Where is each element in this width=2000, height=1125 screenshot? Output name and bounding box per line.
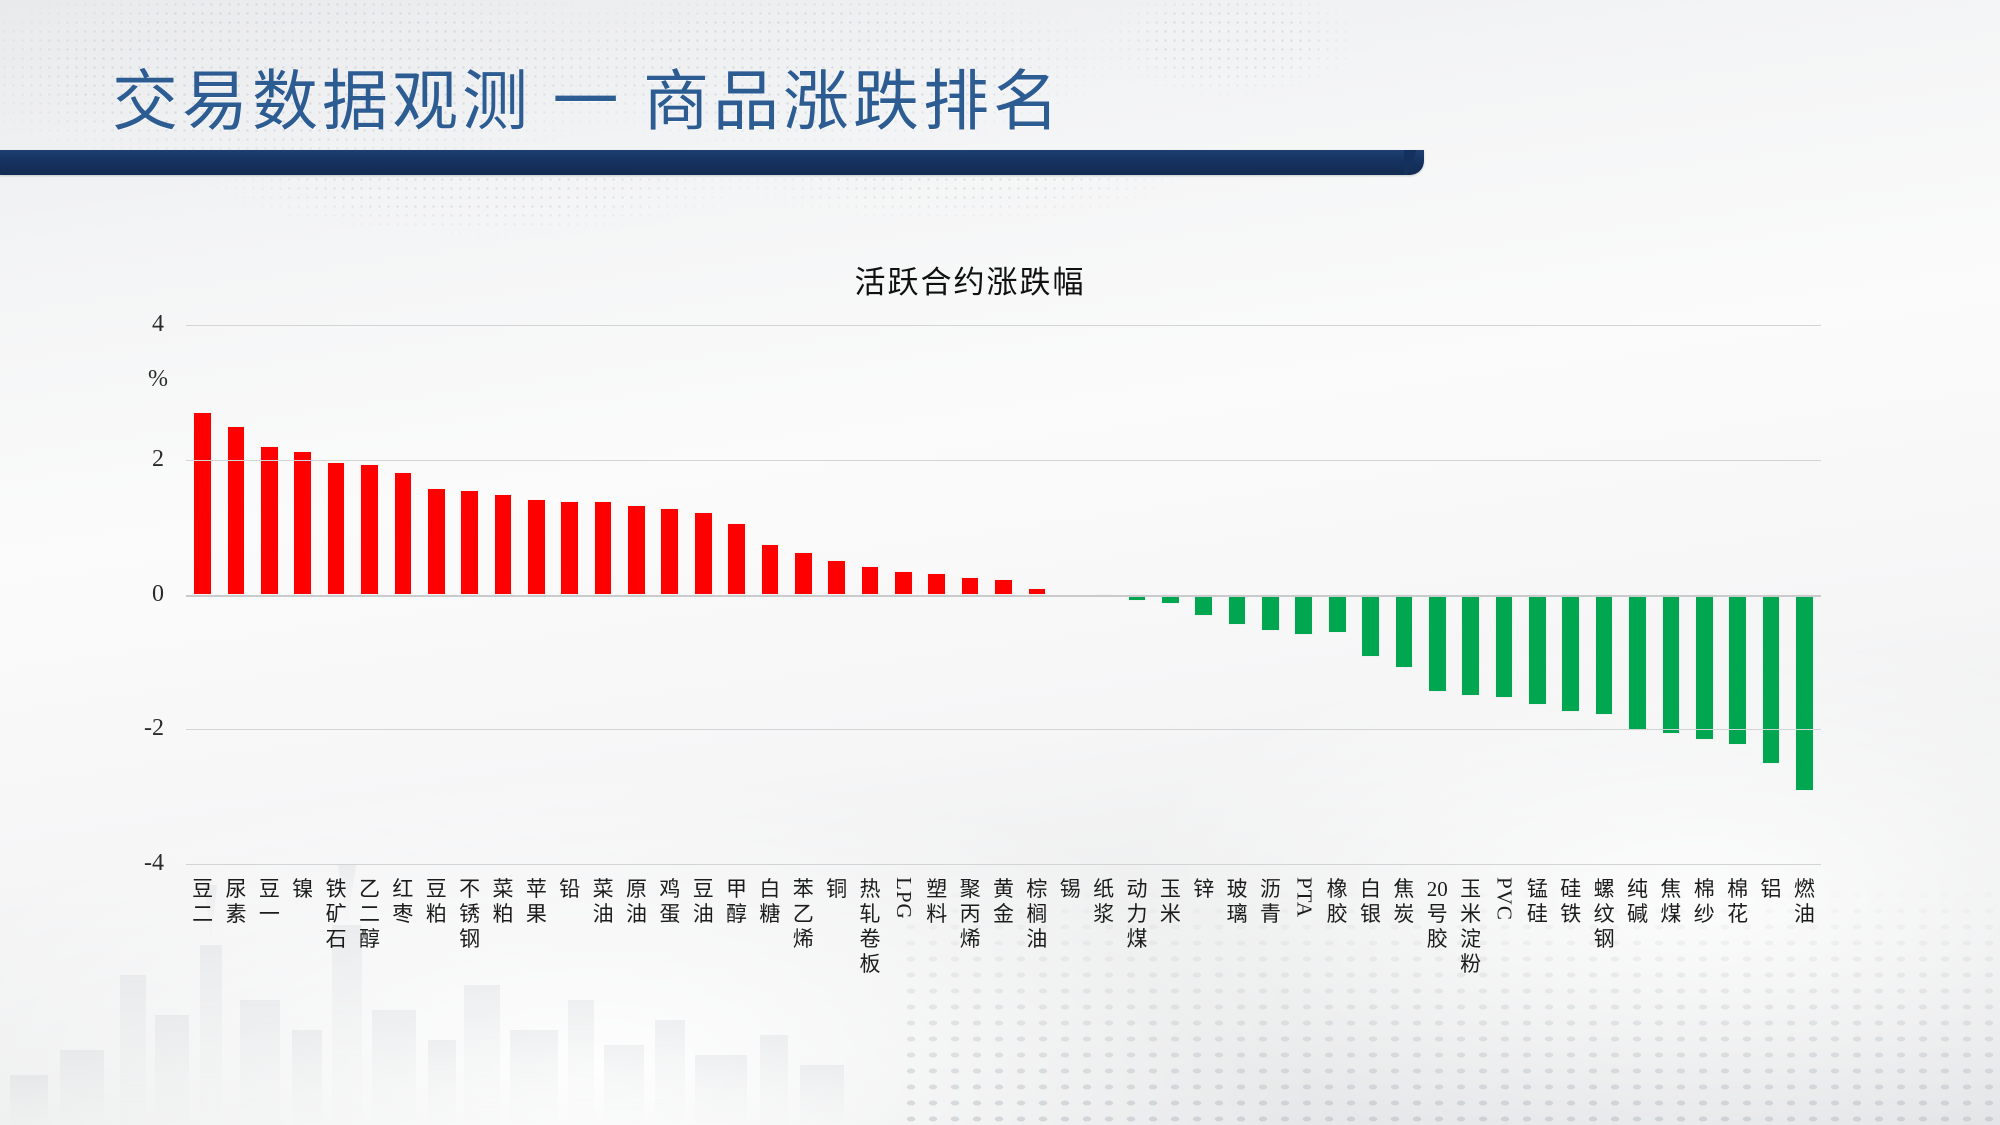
bar bbox=[1262, 595, 1279, 630]
bar bbox=[795, 553, 812, 595]
x-axis-tick-label: 白银 bbox=[1358, 877, 1384, 927]
bar bbox=[1429, 595, 1446, 691]
x-axis-tick-label: 铁矿石 bbox=[323, 877, 349, 952]
bar bbox=[461, 491, 478, 594]
bar bbox=[928, 574, 945, 594]
bar bbox=[1462, 595, 1479, 695]
y-axis-tick-label: 0 bbox=[152, 580, 164, 607]
x-axis-tick-label: 豆二 bbox=[190, 877, 216, 927]
x-axis-tick-label: 乙二醇 bbox=[357, 877, 383, 952]
x-axis-tick-label: 热轧卷板 bbox=[857, 877, 883, 977]
x-axis-tick-label: 硅铁 bbox=[1558, 877, 1584, 927]
plot-area: 420-2-4 bbox=[186, 325, 1821, 864]
x-axis-tick-label: 沥青 bbox=[1257, 877, 1283, 927]
x-axis-tick-label: 锡 bbox=[1057, 877, 1083, 902]
x-axis-tick-label: 红枣 bbox=[390, 877, 416, 927]
bar bbox=[428, 489, 445, 594]
x-axis-tick-label: 菜油 bbox=[590, 877, 616, 927]
bar bbox=[261, 447, 278, 595]
x-axis-tick-label: 豆一 bbox=[256, 877, 282, 927]
bar bbox=[728, 524, 745, 595]
bar bbox=[1195, 595, 1212, 615]
gridline bbox=[186, 864, 1821, 865]
x-axis-tick-label: 焦煤 bbox=[1658, 877, 1684, 927]
x-axis-tick-label: 镍 bbox=[290, 877, 316, 902]
gridline bbox=[186, 325, 1821, 326]
x-axis-tick-label: 尿素 bbox=[223, 877, 249, 927]
bar bbox=[1663, 595, 1680, 733]
x-axis-tick-label: 棉花 bbox=[1725, 877, 1751, 927]
bar bbox=[895, 572, 912, 595]
bar bbox=[228, 427, 245, 594]
zero-axis-line bbox=[186, 595, 1821, 597]
x-axis-tick-label: 菜粕 bbox=[490, 877, 516, 927]
x-axis-tick-label: 玉米淀粉 bbox=[1458, 877, 1484, 977]
bar bbox=[762, 545, 779, 595]
x-axis-tick-label: 棕榈油 bbox=[1024, 877, 1050, 952]
x-axis-tick-label: 锰硅 bbox=[1524, 877, 1550, 927]
gridline bbox=[186, 729, 1821, 730]
x-axis-tick-label: 铜 bbox=[824, 877, 850, 902]
x-axis-tick-label: 白糖 bbox=[757, 877, 783, 927]
x-axis-tick-label: 不锈钢 bbox=[457, 877, 483, 952]
bar bbox=[1529, 595, 1546, 704]
bar bbox=[528, 500, 545, 595]
bar bbox=[1796, 595, 1813, 790]
x-axis-tick-label: 螺纹钢 bbox=[1591, 877, 1617, 952]
bar bbox=[328, 463, 345, 594]
bar bbox=[1763, 595, 1780, 763]
x-axis-tick-label: 苯乙烯 bbox=[790, 877, 816, 952]
bar bbox=[962, 578, 979, 594]
x-axis-tick-label: 豆油 bbox=[690, 877, 716, 927]
x-axis-tick-label: 聚丙烯 bbox=[957, 877, 983, 952]
bar bbox=[361, 465, 378, 594]
chart-title: 活跃合约涨跌幅 bbox=[0, 257, 1940, 302]
gridline bbox=[186, 460, 1821, 461]
bar bbox=[1596, 595, 1613, 715]
y-axis-tick-label: -2 bbox=[144, 715, 164, 742]
y-axis-tick-label: -4 bbox=[144, 850, 164, 877]
x-axis-tick-label: 塑料 bbox=[924, 877, 950, 927]
bar bbox=[1696, 595, 1713, 740]
y-axis-unit-label: % bbox=[148, 366, 168, 393]
x-axis-tick-label: 玻璃 bbox=[1224, 877, 1250, 927]
bar bbox=[294, 452, 311, 595]
x-axis-tick-label: 铝 bbox=[1758, 877, 1784, 902]
title-accent-bar bbox=[0, 150, 1424, 175]
bar bbox=[1295, 595, 1312, 634]
bar bbox=[695, 513, 712, 595]
x-axis-tick-label: 原油 bbox=[623, 877, 649, 927]
bar bbox=[395, 473, 412, 594]
x-axis-tick-label: PVC bbox=[1492, 877, 1517, 921]
bar bbox=[1562, 595, 1579, 712]
x-axis-tick-label: 黄金 bbox=[991, 877, 1017, 927]
bar bbox=[661, 509, 678, 595]
bar bbox=[628, 506, 645, 594]
bar bbox=[1329, 595, 1346, 633]
x-axis-tick-label: 棉纱 bbox=[1691, 877, 1717, 927]
chart-container: 活跃合约涨跌幅 % 420-2-4 豆二尿素豆一镍铁矿石乙二醇红枣豆粕不锈钢菜粕… bbox=[0, 175, 2000, 1125]
x-axis-tick-label: 动力煤 bbox=[1124, 877, 1150, 952]
x-axis-tick-label: 锌 bbox=[1191, 877, 1217, 902]
bar bbox=[862, 567, 879, 595]
x-axis-tick-label: PTA bbox=[1291, 877, 1316, 918]
bar bbox=[1729, 595, 1746, 745]
x-axis-tick-label: 纯碱 bbox=[1624, 877, 1650, 927]
y-axis-tick-label: 4 bbox=[152, 311, 164, 338]
bar bbox=[1362, 595, 1379, 656]
page-title: 交易数据观测 一 商品涨跌排名 bbox=[112, 48, 1063, 144]
bar bbox=[194, 413, 211, 595]
x-axis-tick-label: 燃油 bbox=[1791, 877, 1817, 927]
bar bbox=[495, 495, 512, 595]
bar bbox=[561, 502, 578, 595]
x-axis-tick-label: LPG bbox=[891, 877, 916, 920]
x-axis-tick-label: 鸡蛋 bbox=[657, 877, 683, 927]
slide-background: 交易数据观测 一 商品涨跌排名 活跃合约涨跌幅 % 420-2-4 豆二尿素豆一… bbox=[0, 0, 2000, 1125]
x-axis-tick-label: 纸浆 bbox=[1091, 877, 1117, 927]
bar bbox=[1496, 595, 1513, 697]
bar bbox=[1396, 595, 1413, 667]
x-axis-tick-label: 橡胶 bbox=[1324, 877, 1350, 927]
bar bbox=[995, 580, 1012, 595]
bar bbox=[595, 502, 612, 594]
x-axis-labels: 豆二尿素豆一镍铁矿石乙二醇红枣豆粕不锈钢菜粕苹果铅菜油原油鸡蛋豆油甲醇白糖苯乙烯… bbox=[186, 877, 1821, 1097]
bar bbox=[828, 561, 845, 594]
x-axis-tick-label: 豆粕 bbox=[423, 877, 449, 927]
x-axis-tick-label: 20号胶 bbox=[1424, 877, 1450, 952]
x-axis-tick-label: 玉米 bbox=[1157, 877, 1183, 927]
x-axis-tick-label: 苹果 bbox=[523, 877, 549, 927]
bar bbox=[1629, 595, 1646, 730]
x-axis-tick-label: 焦炭 bbox=[1391, 877, 1417, 927]
x-axis-tick-label: 甲醇 bbox=[724, 877, 750, 927]
bar bbox=[1229, 595, 1246, 625]
x-axis-tick-label: 铅 bbox=[557, 877, 583, 902]
y-axis-tick-label: 2 bbox=[152, 446, 164, 473]
